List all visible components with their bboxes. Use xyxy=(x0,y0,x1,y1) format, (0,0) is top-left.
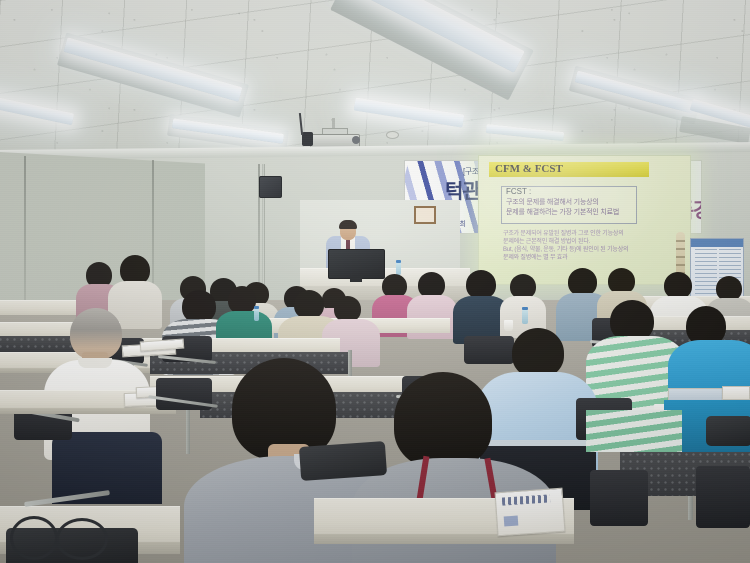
person-green-striped-lower xyxy=(586,410,682,452)
projector-lens xyxy=(352,136,360,144)
slide-body-line-3: But, (음식, 약물, 운동, 기타 등)에 원인이 된 기능상의 xyxy=(503,246,663,254)
slide-title: CFM & FCST xyxy=(495,163,563,175)
projection-screen: CFM & FCST FCST : 구조의 문제를 해결해서 기능상의 문제를 … xyxy=(478,155,691,285)
head xyxy=(394,372,492,468)
head xyxy=(512,328,564,378)
bag-strap-2 xyxy=(56,518,108,560)
head xyxy=(294,290,324,319)
slide-body-line-2: 문제에는 근본적인 해결 방법이 된다. xyxy=(503,238,663,246)
bag-on-chair-right xyxy=(299,441,387,481)
bag-on-chair-far-right xyxy=(706,416,750,446)
wall-picture-frame xyxy=(414,206,436,224)
water-bottle-row3 xyxy=(254,308,259,321)
head xyxy=(664,272,692,299)
projector-cable-box xyxy=(302,132,313,146)
slide-box-line1: 구조의 문제를 해결해서 기능상의 xyxy=(506,197,599,207)
water-bottle-row3b xyxy=(522,310,528,324)
table-edge-foreground-center xyxy=(314,534,574,544)
slide-box-line2: 문제를 해결하려는 가장 기본적인 치료법 xyxy=(506,207,619,217)
seminar-hall-photo: [구조의학의 시... 턱관절을 질환, 법 임상특강 주최 ...학연구소 .… xyxy=(0,0,750,563)
collar xyxy=(78,358,112,368)
poster-text-column-left xyxy=(695,249,717,295)
handout-booklet-logo xyxy=(504,516,519,527)
spine-segment xyxy=(676,240,685,242)
monitor-stand xyxy=(350,277,362,282)
water-bottle-cap xyxy=(396,260,401,263)
tissue-right xyxy=(722,386,750,400)
chair-row3-c[interactable] xyxy=(464,336,514,364)
spine-segment xyxy=(676,248,685,250)
chair-foreground-far-right[interactable] xyxy=(696,466,750,528)
podium-monitor xyxy=(328,249,385,279)
bag-strap-1 xyxy=(10,516,58,560)
head xyxy=(228,286,256,314)
table-edge-foreground-left xyxy=(0,408,176,414)
slide-box-heading: FCST : xyxy=(506,187,531,196)
head xyxy=(466,270,496,299)
water-bottle-cap-row3 xyxy=(254,306,259,309)
wall-panel-seam-2 xyxy=(152,160,154,300)
slide-body-text: 구조가 문제되어 유발된 질병과 그로 인한 기능상의 문제에는 근본적인 해결… xyxy=(503,230,663,262)
slide-body-line-1: 구조가 문제되어 유발된 질병과 그로 인한 기능상의 xyxy=(503,230,663,238)
chair-foreground-right[interactable] xyxy=(590,470,648,526)
presenter-hair xyxy=(339,220,357,229)
wall-speaker xyxy=(259,176,282,198)
water-bottle xyxy=(396,262,401,275)
spine-segment xyxy=(676,264,685,266)
paper-cup-row3 xyxy=(504,320,513,331)
smoke-detector-icon xyxy=(386,131,399,139)
water-bottle-cap-row3b xyxy=(522,307,528,310)
slide-body-line-4: 문제와 질병에는 별 무 효과 xyxy=(503,254,663,262)
poster-header-band xyxy=(691,239,743,247)
wall-panel-seam-1 xyxy=(24,156,26,304)
head xyxy=(568,268,597,296)
spine-segment xyxy=(676,256,685,258)
